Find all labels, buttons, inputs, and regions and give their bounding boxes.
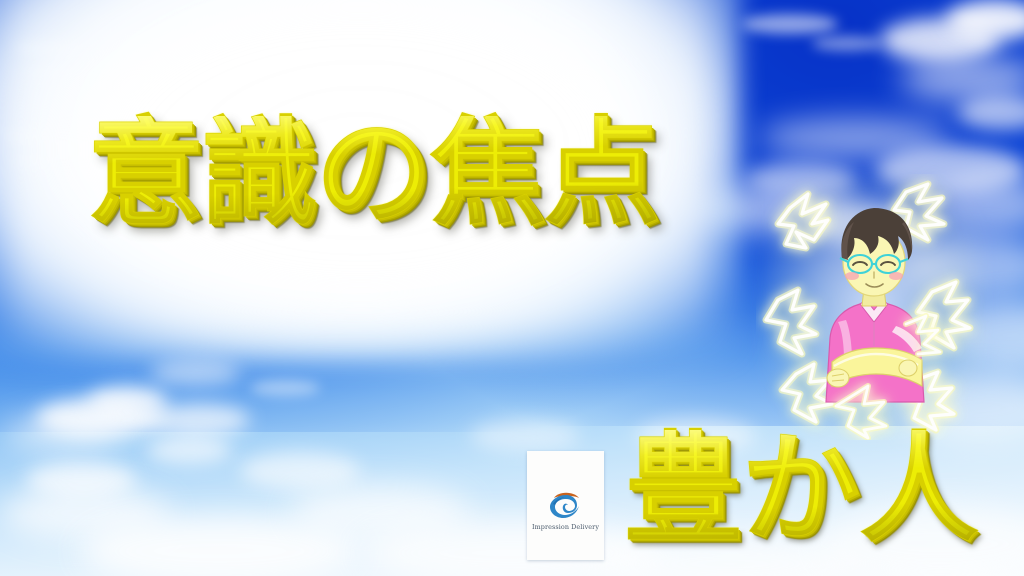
cloud-puff <box>150 360 240 386</box>
cloud-puff <box>240 452 360 490</box>
headline-text: 意識の焦点 意識の焦点 <box>88 116 658 232</box>
thumbnail-canvas: 意識の焦点 意識の焦点 <box>0 0 1024 576</box>
hand-right <box>899 360 917 376</box>
cloud-puff <box>4 416 124 450</box>
swirl-wave-mark <box>546 487 586 519</box>
cloud-puff <box>150 404 250 436</box>
headline-text-base: 意識の焦点 <box>88 106 658 241</box>
cheek-right <box>889 272 903 280</box>
logo-caption: Impression Delivery <box>532 523 599 531</box>
cloud-puff <box>470 420 580 452</box>
character-figure <box>782 196 964 418</box>
cloud-wisp <box>812 36 882 51</box>
logo-blue-swirl <box>550 495 579 518</box>
brand-logo-card[interactable]: Impression Delivery <box>527 451 604 560</box>
subtitle-text: 豊か人 豊か人 <box>624 430 978 548</box>
hand-left <box>827 369 849 387</box>
cheek-left <box>845 272 859 280</box>
cloud-wisp <box>250 380 320 396</box>
cloud-puff <box>146 436 232 464</box>
subtitle-text-base: 豊か人 <box>624 420 978 558</box>
cloud-wisp <box>742 14 838 34</box>
character-illustration <box>782 196 964 418</box>
